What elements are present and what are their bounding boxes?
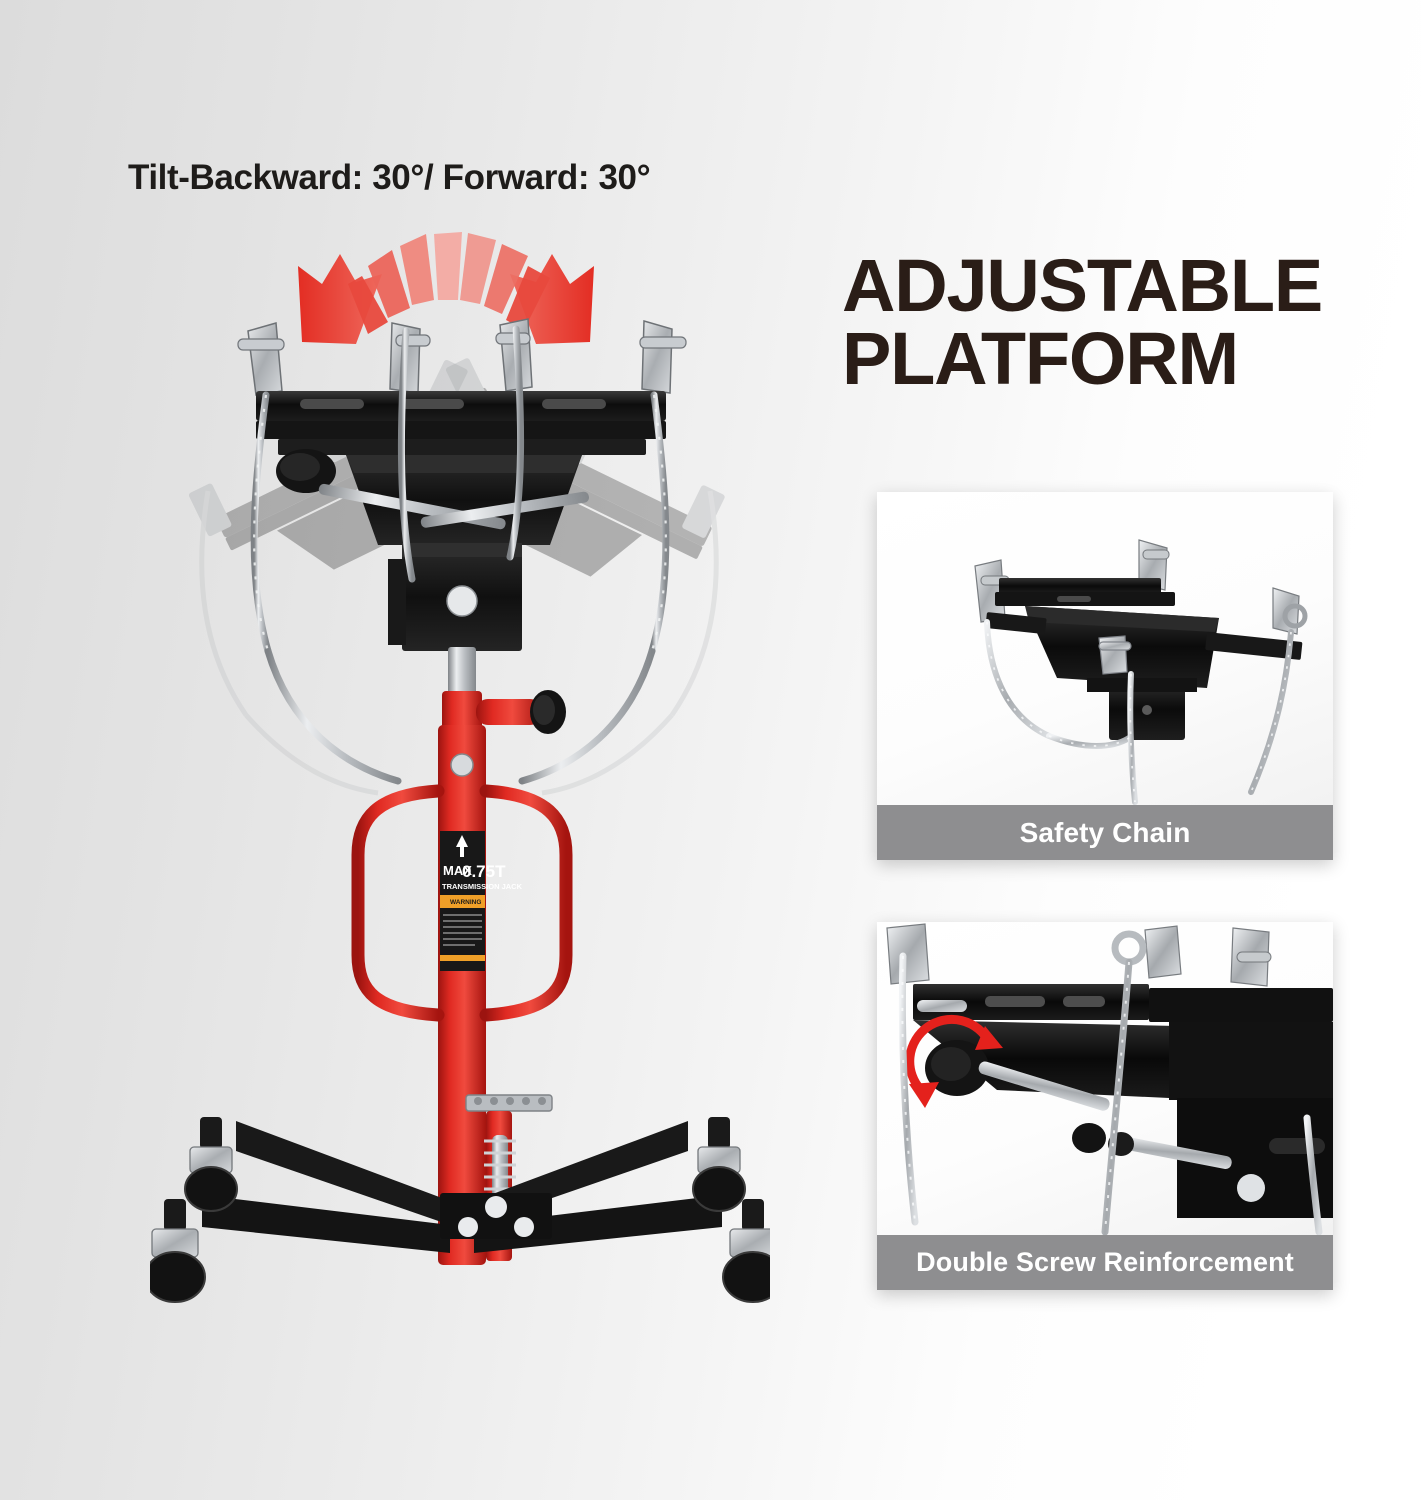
tilt-angle-label: Tilt-Backward: 30°/ Forward: 30° bbox=[128, 158, 650, 198]
transmission-jack-illustration: MAX 0.75T TRANSMISSION JACK WARNING bbox=[150, 295, 770, 1415]
feature-card-safety-chain[interactable]: Safety Chain bbox=[877, 492, 1333, 860]
headline-line-2: PLATFORM bbox=[842, 323, 1402, 396]
feature-caption-double-screw: Double Screw Reinforcement bbox=[877, 1235, 1333, 1290]
feature-caption-safety-chain: Safety Chain bbox=[877, 805, 1333, 860]
double-screw-photo bbox=[877, 922, 1333, 1235]
feature-card-double-screw[interactable]: Double Screw Reinforcement bbox=[877, 922, 1333, 1290]
svg-text:WARNING: WARNING bbox=[450, 899, 481, 906]
safety-chain-photo bbox=[877, 492, 1333, 805]
spec-warning-label: MAX 0.75T TRANSMISSION JACK WARNING bbox=[440, 831, 523, 971]
page-title: ADJUSTABLE PLATFORM bbox=[842, 250, 1402, 395]
infographic-canvas: Tilt-Backward: 30°/ Forward: 30° bbox=[0, 0, 1421, 1500]
svg-text:0.75T: 0.75T bbox=[462, 862, 506, 881]
headline-line-1: ADJUSTABLE bbox=[842, 244, 1322, 327]
svg-text:TRANSMISSION JACK: TRANSMISSION JACK bbox=[442, 882, 523, 891]
